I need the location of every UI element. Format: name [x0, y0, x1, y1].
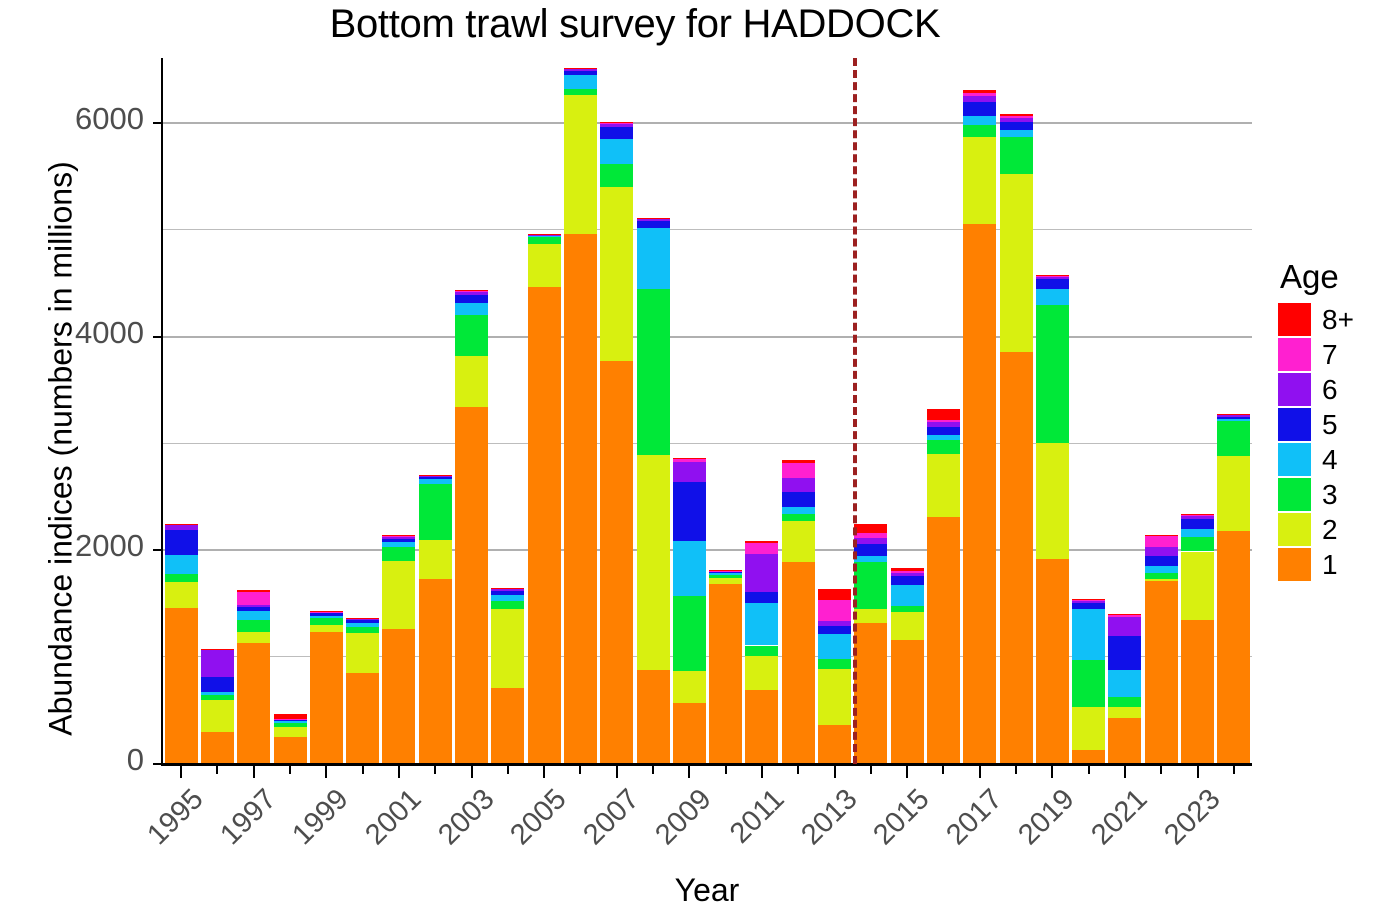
- bar-segment-age-8+[interactable]: [455, 290, 488, 291]
- bar-segment-age-4[interactable]: [1145, 566, 1178, 573]
- bar-segment-age-2[interactable]: [1000, 174, 1033, 351]
- x-tick-label: 2015: [854, 783, 937, 866]
- bar-2009[interactable]: [673, 58, 706, 763]
- bar-segment-age-8+[interactable]: [1072, 599, 1105, 600]
- x-tick-label: 2011: [709, 783, 792, 866]
- bar-segment-age-8+[interactable]: [1036, 275, 1069, 276]
- bar-segment-age-3[interactable]: [455, 315, 488, 356]
- bar-segment-age-2[interactable]: [382, 561, 415, 629]
- bar-segment-age-4[interactable]: [1072, 609, 1105, 660]
- bar-segment-age-2[interactable]: [1217, 456, 1250, 531]
- bar-segment-age-1[interactable]: [745, 690, 778, 763]
- y-tick-mark: [153, 336, 163, 338]
- bar-2008[interactable]: [637, 58, 670, 763]
- bar-segment-age-3[interactable]: [1036, 305, 1069, 443]
- bar-segment-age-6[interactable]: [1000, 118, 1033, 122]
- bar-segment-age-3[interactable]: [927, 440, 960, 454]
- bar-segment-age-7[interactable]: [237, 592, 270, 605]
- bar-segment-age-3[interactable]: [564, 89, 597, 95]
- x-tick-mark: [1197, 766, 1199, 778]
- x-tick-label: 2013: [781, 783, 864, 866]
- bar-segment-age-8+[interactable]: [491, 588, 524, 589]
- bar-segment-age-8+[interactable]: [600, 122, 633, 123]
- bar-segment-age-1[interactable]: [165, 608, 198, 763]
- bar-2003[interactable]: [455, 58, 488, 763]
- bar-segment-age-8+[interactable]: [310, 611, 343, 612]
- bar-2020[interactable]: [1072, 58, 1105, 763]
- bar-segment-age-2[interactable]: [745, 656, 778, 690]
- bar-2002[interactable]: [419, 58, 452, 763]
- bar-segment-age-4[interactable]: [237, 611, 270, 620]
- bar-segment-age-6[interactable]: [818, 621, 851, 626]
- bar-segment-age-4[interactable]: [600, 139, 633, 164]
- bar-segment-age-2[interactable]: [818, 669, 851, 725]
- bar-segment-age-6[interactable]: [1072, 601, 1105, 603]
- x-tick-label: 1995: [128, 783, 211, 866]
- bar-segment-age-3[interactable]: [745, 646, 778, 657]
- bar-segment-age-3[interactable]: [346, 627, 379, 633]
- bar-segment-age-6[interactable]: [564, 69, 597, 71]
- bar-segment-age-4[interactable]: [165, 555, 198, 574]
- bar-2019[interactable]: [1036, 58, 1069, 763]
- bar-segment-age-5[interactable]: [637, 221, 670, 227]
- legend-label-age-2: 2: [1322, 513, 1338, 546]
- bar-segment-age-7[interactable]: [274, 719, 307, 720]
- bar-segment-age-3[interactable]: [782, 514, 815, 520]
- bar-segment-age-1[interactable]: [891, 640, 924, 763]
- bar-segment-age-5[interactable]: [782, 492, 815, 507]
- bar-segment-age-2[interactable]: [1145, 579, 1178, 581]
- bar-segment-age-4[interactable]: [1181, 529, 1214, 537]
- bar-segment-age-1[interactable]: [963, 224, 996, 763]
- bar-segment-age-5[interactable]: [237, 607, 270, 611]
- x-tick-mark: [1160, 766, 1162, 774]
- bar-segment-age-1[interactable]: [709, 584, 742, 763]
- y-tick-mark: [153, 122, 163, 124]
- bar-segment-age-3[interactable]: [165, 574, 198, 583]
- bar-segment-age-6[interactable]: [600, 124, 633, 127]
- bar-segment-age-7[interactable]: [745, 543, 778, 554]
- bar-segment-age-2[interactable]: [637, 455, 670, 670]
- bar-segment-age-4[interactable]: [927, 435, 960, 440]
- bar-segment-age-8+[interactable]: [673, 458, 706, 459]
- bar-1997[interactable]: [237, 58, 270, 763]
- bar-segment-age-2[interactable]: [782, 521, 815, 563]
- legend-swatch-age-3: [1278, 478, 1311, 511]
- x-tick-mark: [253, 766, 255, 778]
- bar-segment-age-2[interactable]: [1108, 707, 1141, 718]
- bar-segment-age-8+[interactable]: [1181, 514, 1214, 515]
- bar-segment-age-6[interactable]: [891, 573, 924, 576]
- bar-segment-age-7[interactable]: [600, 123, 633, 125]
- bar-segment-age-6[interactable]: [782, 478, 815, 492]
- bar-segment-age-7[interactable]: [1145, 536, 1178, 547]
- bar-segment-age-1[interactable]: [491, 688, 524, 763]
- bar-2022[interactable]: [1145, 58, 1178, 763]
- bar-segment-age-4[interactable]: [491, 595, 524, 600]
- bar-segment-age-5[interactable]: [165, 530, 198, 555]
- legend-swatch-age-1: [1278, 548, 1311, 581]
- bar-segment-age-7[interactable]: [782, 463, 815, 478]
- bar-segment-age-3[interactable]: [1108, 697, 1141, 708]
- bar-segment-age-6[interactable]: [201, 650, 234, 677]
- x-tick-mark: [579, 766, 581, 774]
- bar-segment-age-6[interactable]: [491, 589, 524, 591]
- bar-segment-age-8+[interactable]: [274, 714, 307, 718]
- bar-1998[interactable]: [274, 58, 307, 763]
- bar-segment-age-5[interactable]: [818, 626, 851, 633]
- reference-line: [853, 58, 857, 764]
- bar-segment-age-2[interactable]: [673, 671, 706, 703]
- bar-segment-age-8+[interactable]: [528, 234, 561, 235]
- bar-segment-age-5[interactable]: [1181, 519, 1214, 529]
- legend-item-age-1[interactable]: 1: [1278, 547, 1382, 582]
- bar-2021[interactable]: [1108, 58, 1141, 763]
- bar-segment-age-6[interactable]: [1036, 277, 1069, 279]
- bar-segment-age-1[interactable]: [1145, 581, 1178, 763]
- bar-segment-age-1[interactable]: [564, 234, 597, 763]
- legend-label-age-7: 7: [1322, 338, 1338, 371]
- bar-segment-age-3[interactable]: [854, 562, 887, 609]
- bar-segment-age-4[interactable]: [1036, 289, 1069, 305]
- bar-2006[interactable]: [564, 58, 597, 763]
- bar-segment-age-1[interactable]: [346, 673, 379, 763]
- bar-segment-age-5[interactable]: [455, 295, 488, 302]
- bar-segment-age-6[interactable]: [165, 525, 198, 530]
- y-tick-label: 0: [127, 742, 144, 778]
- bar-2010[interactable]: [709, 58, 742, 763]
- bar-segment-age-2[interactable]: [854, 609, 887, 623]
- bar-segment-age-5[interactable]: [1145, 556, 1178, 566]
- bar-segment-age-8+[interactable]: [927, 409, 960, 420]
- bar-segment-age-6[interactable]: [382, 537, 415, 539]
- bar-segment-age-8+[interactable]: [637, 218, 670, 219]
- bar-2016[interactable]: [927, 58, 960, 763]
- bar-segment-age-4[interactable]: [854, 556, 887, 562]
- bar-segment-age-5[interactable]: [1036, 279, 1069, 289]
- bar-segment-age-4[interactable]: [1217, 419, 1250, 421]
- bar-segment-age-3[interactable]: [1145, 573, 1178, 579]
- bar-segment-age-2[interactable]: [709, 578, 742, 583]
- bar-segment-age-5[interactable]: [382, 539, 415, 542]
- bar-segment-age-6[interactable]: [927, 422, 960, 426]
- legend-item-age-3[interactable]: 3: [1278, 477, 1382, 512]
- legend-items: 8+7654321: [1278, 302, 1382, 582]
- bar-1996[interactable]: [201, 58, 234, 763]
- y-tick-mark: [153, 549, 163, 551]
- bar-segment-age-4[interactable]: [1000, 130, 1033, 137]
- x-tick-mark: [1051, 766, 1053, 778]
- bar-segment-age-4[interactable]: [891, 585, 924, 606]
- x-tick-mark: [761, 766, 763, 778]
- bar-segment-age-5[interactable]: [1000, 122, 1033, 129]
- bar-segment-age-2[interactable]: [600, 187, 633, 361]
- bar-segment-age-2[interactable]: [237, 632, 270, 644]
- x-tick-mark: [216, 766, 218, 774]
- legend-item-age-2[interactable]: 2: [1278, 512, 1382, 547]
- bar-segment-age-1[interactable]: [927, 517, 960, 763]
- bar-segment-age-1[interactable]: [1217, 531, 1250, 763]
- bar-segment-age-5[interactable]: [673, 482, 706, 541]
- x-tick-mark: [979, 766, 981, 778]
- bar-segment-age-8+[interactable]: [1217, 414, 1250, 415]
- bar-segment-age-6[interactable]: [963, 96, 996, 101]
- bar-segment-age-5[interactable]: [310, 613, 343, 615]
- legend-title: Age: [1280, 258, 1382, 296]
- x-tick-label: 2019: [999, 783, 1082, 866]
- bar-segment-age-3[interactable]: [963, 125, 996, 137]
- bar-segment-age-3[interactable]: [382, 547, 415, 561]
- bar-segment-age-8+[interactable]: [237, 590, 270, 591]
- bar-segment-age-8+[interactable]: [818, 589, 851, 600]
- bar-segment-age-5[interactable]: [1217, 417, 1250, 419]
- bar-segment-age-7[interactable]: [963, 93, 996, 96]
- bar-segment-age-6[interactable]: [455, 292, 488, 295]
- bar-segment-age-2[interactable]: [891, 612, 924, 640]
- bar-segment-age-2[interactable]: [1181, 552, 1214, 620]
- bar-segment-age-8+[interactable]: [165, 524, 198, 525]
- bar-segment-age-3[interactable]: [528, 237, 561, 243]
- bar-segment-age-6[interactable]: [1181, 516, 1214, 519]
- bar-segment-age-8+[interactable]: [782, 460, 815, 463]
- bar-segment-age-4[interactable]: [709, 573, 742, 575]
- bar-segment-age-2[interactable]: [310, 625, 343, 631]
- bar-segment-age-5[interactable]: [491, 591, 524, 595]
- bar-segment-age-8+[interactable]: [963, 90, 996, 93]
- bar-2012[interactable]: [782, 58, 815, 763]
- bar-segment-age-2[interactable]: [201, 700, 234, 732]
- bar-segment-age-7[interactable]: [854, 533, 887, 537]
- bar-2001[interactable]: [382, 58, 415, 763]
- bar-segment-age-4[interactable]: [782, 507, 815, 514]
- bar-segment-age-3[interactable]: [237, 620, 270, 632]
- bar-segment-age-4[interactable]: [528, 236, 561, 237]
- bar-segment-age-3[interactable]: [637, 289, 670, 456]
- bar-segment-age-1[interactable]: [1036, 559, 1069, 763]
- bar-segment-age-2[interactable]: [419, 540, 452, 580]
- bar-segment-age-7[interactable]: [927, 420, 960, 422]
- x-tick-label: 2017: [926, 783, 1009, 866]
- bar-segment-age-5[interactable]: [927, 427, 960, 436]
- bar-segment-age-6[interactable]: [854, 538, 887, 544]
- x-tick-mark: [942, 766, 944, 774]
- bar-segment-age-4[interactable]: [419, 479, 452, 484]
- bar-segment-age-2[interactable]: [455, 356, 488, 407]
- plot-area: [163, 58, 1252, 763]
- bar-segment-age-7[interactable]: [673, 459, 706, 462]
- bar-segment-age-5[interactable]: [1072, 603, 1105, 609]
- bar-segment-age-1[interactable]: [1181, 620, 1214, 763]
- legend-label-age-1: 1: [1322, 548, 1338, 581]
- bar-segment-age-2[interactable]: [1072, 707, 1105, 750]
- x-tick-mark: [362, 766, 364, 774]
- bar-2000[interactable]: [346, 58, 379, 763]
- legend-swatch-age-6: [1278, 373, 1311, 406]
- bar-segment-age-3[interactable]: [1072, 660, 1105, 707]
- bar-segment-age-8+[interactable]: [891, 568, 924, 571]
- bar-2023[interactable]: [1181, 58, 1214, 763]
- bar-segment-age-6[interactable]: [1108, 617, 1141, 636]
- bar-segment-age-4[interactable]: [637, 228, 670, 289]
- bar-segment-age-5[interactable]: [891, 576, 924, 585]
- bar-segment-age-1[interactable]: [455, 407, 488, 763]
- bar-segment-age-6[interactable]: [637, 219, 670, 221]
- bar-segment-age-8+[interactable]: [419, 475, 452, 476]
- bar-segment-age-5[interactable]: [346, 620, 379, 623]
- bar-segment-age-4[interactable]: [963, 116, 996, 126]
- bar-segment-age-5[interactable]: [745, 592, 778, 603]
- bar-segment-age-1[interactable]: [1072, 750, 1105, 763]
- legend-item-age-8+[interactable]: 8+: [1278, 302, 1382, 337]
- bar-segment-age-1[interactable]: [818, 725, 851, 763]
- bar-segment-age-6[interactable]: [1217, 415, 1250, 417]
- bar-1999[interactable]: [310, 58, 343, 763]
- bar-segment-age-8+[interactable]: [1145, 535, 1178, 536]
- bar-segment-age-1[interactable]: [1000, 352, 1033, 763]
- legend-label-age-5: 5: [1322, 408, 1338, 441]
- bar-segment-age-8+[interactable]: [382, 535, 415, 536]
- bar-segment-age-8+[interactable]: [709, 570, 742, 571]
- bar-segment-age-8+[interactable]: [564, 68, 597, 69]
- x-tick-mark: [1088, 766, 1090, 774]
- bar-segment-age-3[interactable]: [310, 618, 343, 625]
- bar-segment-age-4[interactable]: [1108, 670, 1141, 697]
- legend: Age 8+7654321: [1278, 258, 1382, 582]
- bar-segment-age-4[interactable]: [818, 634, 851, 660]
- bar-segment-age-6[interactable]: [745, 554, 778, 592]
- x-tick-mark: [1124, 766, 1126, 778]
- x-tick-label: 2007: [563, 783, 646, 866]
- bar-segment-age-1[interactable]: [274, 737, 307, 763]
- x-tick-mark: [834, 766, 836, 778]
- bar-segment-age-4[interactable]: [745, 603, 778, 646]
- bar-segment-age-3[interactable]: [673, 596, 706, 671]
- bar-segment-age-3[interactable]: [891, 606, 924, 612]
- bar-segment-age-5[interactable]: [419, 477, 452, 479]
- bar-segment-age-8+[interactable]: [346, 618, 379, 619]
- bar-segment-age-6[interactable]: [237, 605, 270, 607]
- bar-segment-age-5[interactable]: [201, 677, 234, 692]
- bar-segment-age-1[interactable]: [382, 629, 415, 763]
- bar-2011[interactable]: [745, 58, 778, 763]
- bar-segment-age-3[interactable]: [709, 575, 742, 578]
- bar-2024[interactable]: [1217, 58, 1250, 763]
- bar-segment-age-1[interactable]: [782, 562, 815, 763]
- bar-segment-age-8+[interactable]: [854, 524, 887, 534]
- bar-1995[interactable]: [165, 58, 198, 763]
- bar-segment-age-1[interactable]: [600, 361, 633, 763]
- legend-swatch-age-8+: [1278, 303, 1311, 336]
- bar-segment-age-3[interactable]: [419, 484, 452, 540]
- x-axis-title: Year: [162, 872, 1252, 909]
- bar-segment-age-4[interactable]: [346, 623, 379, 627]
- bar-segment-age-4[interactable]: [310, 616, 343, 618]
- bar-2005[interactable]: [528, 58, 561, 763]
- bar-segment-age-3[interactable]: [1000, 137, 1033, 174]
- bar-segment-age-4[interactable]: [455, 303, 488, 316]
- bar-segment-age-3[interactable]: [274, 723, 307, 726]
- bar-segment-age-5[interactable]: [963, 102, 996, 116]
- bar-segment-age-2[interactable]: [963, 137, 996, 224]
- y-tick-label: 2000: [75, 528, 144, 564]
- bar-segment-age-3[interactable]: [201, 695, 234, 700]
- bar-2017[interactable]: [963, 58, 996, 763]
- bar-segment-age-2[interactable]: [528, 244, 561, 287]
- bar-segment-age-3[interactable]: [491, 601, 524, 610]
- bar-2014[interactable]: [854, 58, 887, 763]
- legend-item-age-6[interactable]: 6: [1278, 372, 1382, 407]
- x-tick-mark: [398, 766, 400, 778]
- bar-segment-age-4[interactable]: [201, 692, 234, 695]
- bar-segment-age-7[interactable]: [1000, 116, 1033, 118]
- bar-segment-age-4[interactable]: [274, 721, 307, 723]
- bar-segment-age-5[interactable]: [600, 127, 633, 139]
- bar-segment-age-1[interactable]: [237, 643, 270, 763]
- bar-segment-age-2[interactable]: [346, 633, 379, 674]
- bar-segment-age-6[interactable]: [673, 462, 706, 482]
- bar-segment-age-7[interactable]: [891, 571, 924, 573]
- bar-segment-age-1[interactable]: [201, 732, 234, 763]
- bar-2013[interactable]: [818, 58, 851, 763]
- legend-label-age-4: 4: [1322, 443, 1338, 476]
- bar-segment-age-3[interactable]: [1181, 537, 1214, 552]
- bar-segment-age-8+[interactable]: [745, 541, 778, 543]
- bar-segment-age-2[interactable]: [927, 454, 960, 517]
- bar-segment-age-2[interactable]: [564, 95, 597, 234]
- bar-segment-age-5[interactable]: [1108, 636, 1141, 670]
- bar-segment-age-2[interactable]: [491, 609, 524, 688]
- bar-segment-age-2[interactable]: [165, 582, 198, 608]
- bar-segment-age-1[interactable]: [310, 632, 343, 763]
- bar-segment-age-1[interactable]: [419, 579, 452, 763]
- bar-segment-age-5[interactable]: [564, 71, 597, 75]
- legend-label-age-3: 3: [1322, 478, 1338, 511]
- x-tick-mark: [652, 766, 654, 774]
- bar-2018[interactable]: [1000, 58, 1033, 763]
- bar-segment-age-4[interactable]: [673, 541, 706, 597]
- chart-title: Bottom trawl survey for HADDOCK: [0, 2, 1270, 47]
- x-tick-label: 1997: [200, 783, 283, 866]
- bar-segment-age-4[interactable]: [564, 75, 597, 89]
- bar-segment-age-5[interactable]: [854, 544, 887, 556]
- bar-segment-age-8+[interactable]: [201, 649, 234, 650]
- legend-item-age-4[interactable]: 4: [1278, 442, 1382, 477]
- bar-segment-age-8+[interactable]: [1000, 114, 1033, 116]
- bar-segment-age-3[interactable]: [818, 659, 851, 669]
- bar-segment-age-4[interactable]: [382, 542, 415, 547]
- bar-segment-age-7[interactable]: [818, 600, 851, 621]
- bar-segment-age-1[interactable]: [673, 703, 706, 763]
- bar-segment-age-1[interactable]: [854, 623, 887, 763]
- bar-segment-age-1[interactable]: [528, 287, 561, 763]
- bar-2015[interactable]: [891, 58, 924, 763]
- bar-segment-age-6[interactable]: [1145, 547, 1178, 557]
- chart-root: Bottom trawl survey for HADDOCK Abundanc…: [0, 0, 1384, 922]
- legend-item-age-7[interactable]: 7: [1278, 337, 1382, 372]
- bar-2007[interactable]: [600, 58, 633, 763]
- bar-segment-age-2[interactable]: [1036, 443, 1069, 559]
- bar-segment-age-1[interactable]: [1108, 718, 1141, 763]
- bar-segment-age-8+[interactable]: [1108, 614, 1141, 615]
- bar-segment-age-3[interactable]: [600, 164, 633, 188]
- x-tick-mark: [797, 766, 799, 774]
- bar-segment-age-3[interactable]: [1217, 421, 1250, 456]
- legend-item-age-5[interactable]: 5: [1278, 407, 1382, 442]
- y-tick-mark: [153, 763, 163, 765]
- bar-segment-age-1[interactable]: [637, 670, 670, 763]
- bar-2004[interactable]: [491, 58, 524, 763]
- bar-segment-age-2[interactable]: [274, 727, 307, 737]
